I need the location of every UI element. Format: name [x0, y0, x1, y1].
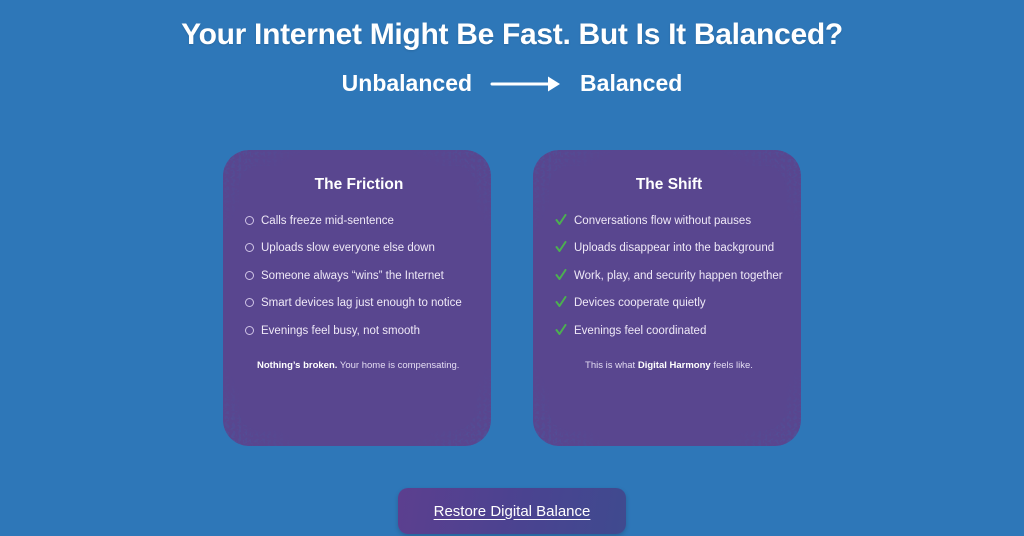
list-item-label: Devices cooperate quietly [574, 296, 706, 310]
list-item-label: Calls freeze mid-sentence [261, 214, 394, 228]
check-icon [555, 214, 567, 226]
transition-row: Unbalanced Balanced [0, 70, 1024, 97]
transition-from-label: Unbalanced [342, 70, 472, 97]
shift-item-list: Conversations flow without pauses Upload… [555, 214, 783, 338]
list-item-label: Uploads disappear into the background [574, 241, 774, 255]
circle-outline-icon [245, 298, 254, 307]
list-item: Work, play, and security happen together [555, 269, 783, 283]
circle-outline-icon [245, 216, 254, 225]
list-item: Uploads slow everyone else down [245, 241, 473, 255]
list-item: Evenings feel busy, not smooth [245, 324, 473, 338]
list-item: Conversations flow without pauses [555, 214, 783, 228]
list-item-label: Evenings feel busy, not smooth [261, 324, 420, 338]
list-item: Smart devices lag just enough to notice [245, 296, 473, 310]
card-shift-footnote-post: feels like. [711, 360, 753, 371]
circle-outline-icon [245, 326, 254, 335]
card-friction-title: The Friction [245, 176, 473, 194]
circle-outline-icon [245, 271, 254, 280]
card-friction-footnote-bold: Nothing’s broken. [257, 360, 337, 371]
list-item-label: Conversations flow without pauses [574, 214, 751, 228]
list-item-label: Evenings feel coordinated [574, 324, 706, 338]
check-icon [555, 241, 567, 253]
list-item: Calls freeze mid-sentence [245, 214, 473, 228]
card-shift: The Shift Conversations flow without pau… [533, 150, 801, 446]
page-title: Your Internet Might Be Fast. But Is It B… [0, 18, 1024, 52]
comparison-cards: The Friction Calls freeze mid-sentence U… [0, 150, 1024, 446]
list-item-label: Someone always “wins” the Internet [261, 269, 444, 283]
list-item: Someone always “wins” the Internet [245, 269, 473, 283]
card-shift-footnote-pre: This is what [585, 360, 638, 371]
card-friction-footnote-rest: Your home is compensating. [337, 360, 459, 371]
cta-container: Restore Digital Balance [0, 488, 1024, 534]
transition-to-label: Balanced [580, 70, 682, 97]
check-icon [555, 324, 567, 336]
list-item: Evenings feel coordinated [555, 324, 783, 338]
check-icon [555, 296, 567, 308]
card-shift-title: The Shift [555, 176, 783, 194]
card-shift-footnote-bold: Digital Harmony [638, 360, 711, 371]
circle-outline-icon [245, 243, 254, 252]
check-icon [555, 269, 567, 281]
friction-item-list: Calls freeze mid-sentence Uploads slow e… [245, 214, 473, 338]
card-friction: The Friction Calls freeze mid-sentence U… [223, 150, 491, 446]
list-item-label: Work, play, and security happen together [574, 269, 783, 283]
card-shift-footnote: This is what Digital Harmony feels like. [555, 360, 783, 373]
card-friction-footnote: Nothing’s broken. Your home is compensat… [245, 360, 473, 373]
restore-digital-balance-button[interactable]: Restore Digital Balance [398, 488, 626, 534]
arrow-right-icon [490, 73, 562, 95]
list-item-label: Uploads slow everyone else down [261, 241, 435, 255]
list-item: Devices cooperate quietly [555, 296, 783, 310]
list-item: Uploads disappear into the background [555, 241, 783, 255]
list-item-label: Smart devices lag just enough to notice [261, 296, 462, 310]
